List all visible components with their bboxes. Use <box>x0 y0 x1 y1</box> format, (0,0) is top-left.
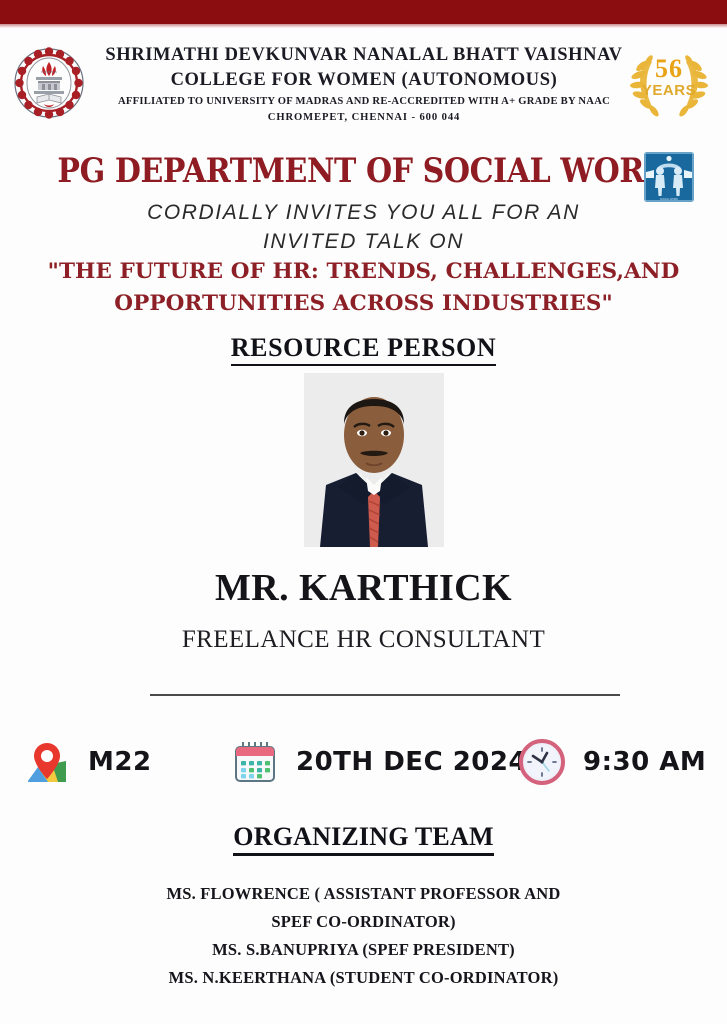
talk-title-line-1: "THE FUTURE OF HR: TRENDS, CHALLENGES,AN… <box>40 256 687 288</box>
organizing-team-member-line: SPEF CO-ORDINATOR) <box>0 908 727 936</box>
college-name-line1: SHRIMATHI DEVKUNVAR NANALAL BHATT VAISHN… <box>96 43 632 68</box>
organizing-team-member-line: MS. S.BANUPRIYA (SPEF PRESIDENT) <box>0 936 727 964</box>
department-row: PG DEPARTMENT OF SOCIAL WORK <box>0 152 727 198</box>
college-affiliation: AFFILIATED TO UNIVERSITY OF MADRAS AND R… <box>96 93 632 110</box>
social-work-logo-icon: SOCIAL WORK <box>644 152 694 202</box>
college-crest-icon: VAISHNAV <box>12 46 86 120</box>
resource-person-heading-label: RESOURCE PERSON <box>231 333 496 366</box>
event-venue: M22 <box>22 730 152 794</box>
calendar-icon <box>230 737 280 787</box>
years-number: 56 <box>625 54 713 84</box>
resource-person-heading: RESOURCE PERSON <box>0 333 727 363</box>
college-header: VAISHNAV SHRIMATHI DEVKUNVAR NANALAL BHA… <box>0 26 727 138</box>
location-pin-icon <box>22 737 72 787</box>
top-accent-bar <box>0 0 727 24</box>
section-divider <box>150 694 620 696</box>
organizing-team-heading: ORGANIZING TEAM <box>0 822 727 852</box>
invitation-text: CORDIALLY INVITES YOU ALL FOR AN INVITED… <box>0 198 727 256</box>
invitation-line-2: INVITED TALK ON <box>0 227 727 256</box>
years-label: YEARS <box>625 82 713 99</box>
laurel-wreath-icon: 56 YEARS <box>625 42 713 122</box>
organizing-team-member-line: MS. N.KEERTHANA (STUDENT CO-ORDINATOR) <box>0 964 727 992</box>
speaker-name: MR. KARTHICK <box>0 566 727 610</box>
college-header-text: SHRIMATHI DEVKUNVAR NANALAL BHATT VAISHN… <box>96 43 632 126</box>
college-address: CHROMEPET, CHENNAI - 600 044 <box>96 110 632 126</box>
talk-title-line-2: OPPORTUNITIES ACROSS INDUSTRIES" <box>40 288 687 320</box>
event-venue-value: M22 <box>88 747 152 777</box>
speaker-designation: FREELANCE HR CONSULTANT <box>0 626 727 654</box>
clock-icon <box>517 737 567 787</box>
organizing-team-heading-label: ORGANIZING TEAM <box>233 822 493 856</box>
svg-text:VAISHNAV: VAISHNAV <box>41 70 58 74</box>
department-title: PG DEPARTMENT OF SOCIAL WORK <box>0 152 727 191</box>
event-details-row: M22 <box>0 730 727 794</box>
college-name-line2: COLLEGE FOR WOMEN (AUTONOMOUS) <box>96 68 632 93</box>
event-time: 9:30 AM <box>517 730 706 794</box>
event-time-value: 9:30 AM <box>583 747 706 777</box>
organizing-team-list: MS. FLOWRENCE ( ASSISTANT PROFESSOR AND … <box>0 880 727 992</box>
event-date: 20TH DEC 2024 <box>230 730 527 794</box>
invitation-line-1: CORDIALLY INVITES YOU ALL FOR AN <box>0 198 727 227</box>
organizing-team-member-line: MS. FLOWRENCE ( ASSISTANT PROFESSOR AND <box>0 880 727 908</box>
event-invitation-poster: VAISHNAV SHRIMATHI DEVKUNVAR NANALAL BHA… <box>0 0 727 1024</box>
event-date-value: 20TH DEC 2024 <box>296 747 527 777</box>
talk-title: "THE FUTURE OF HR: TRENDS, CHALLENGES,AN… <box>40 256 687 320</box>
speaker-portrait-photo <box>304 373 444 547</box>
